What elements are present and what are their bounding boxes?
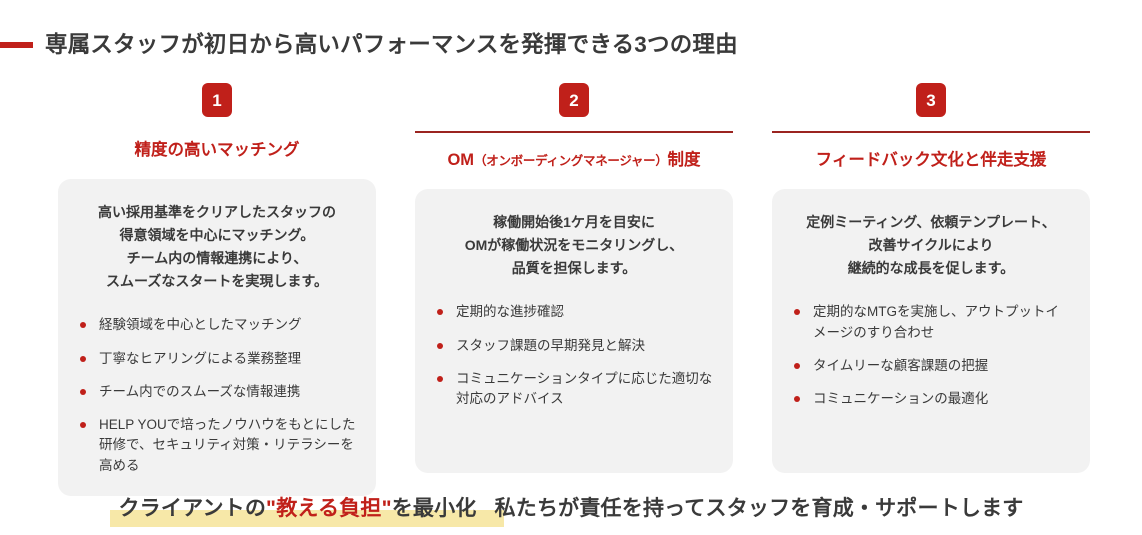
bullet-dot-icon [794, 309, 800, 315]
list-item: 経験領域を中心としたマッチング [78, 315, 356, 335]
bullet-text: コミュニケーションタイプに応じた適切な対応のアドバイス [456, 371, 712, 406]
title-accent-dash [0, 42, 33, 48]
badge-wrap-2: 2 [415, 83, 733, 125]
bullet-text: コミュニケーションの最適化 [813, 391, 988, 406]
reasons-columns: 1 精度の高いマッチング 高い採用基準をクリアしたスタッフの 得意領域を中心にマ… [58, 83, 1090, 473]
bullet-text: HELP YOUで培ったノウハウをもとにした研修で、セキュリティ対策・リテラシー… [99, 417, 356, 473]
bullet-text: 定期的な進捗確認 [456, 304, 564, 319]
column-bullets-1: 経験領域を中心としたマッチング 丁寧なヒアリングによる業務整理 チーム内でのスム… [78, 315, 356, 476]
footer-prefix: クライアントの [118, 497, 266, 520]
column-card-1: 高い採用基準をクリアしたスタッフの 得意領域を中心にマッチング。 チーム内の情報… [58, 179, 376, 496]
footer-support-text: 私たちが責任を持ってスタッフを育成・サポートします [495, 498, 1024, 519]
list-item: 定期的な進捗確認 [435, 302, 713, 322]
footer-suffix: を最小化 [392, 497, 477, 520]
column-lead-2: 稼働開始後1ケ月を目安に OMが稼働状況をモニタリングし、 品質を担保します。 [435, 211, 713, 280]
bullet-dot-icon [80, 322, 86, 328]
bullet-dot-icon [437, 309, 443, 315]
slide-title-row: 専属スタッフが初日から高いパフォーマンスを発揮できる3つの理由 [0, 28, 1142, 62]
step-number-badge: 1 [202, 83, 232, 117]
bullet-dot-icon [437, 376, 443, 382]
bullet-dot-icon [80, 356, 86, 362]
bullet-dot-icon [794, 363, 800, 369]
column-bullets-3: 定期的なMTGを実施し、アウトプットイメージのすり合わせ タイムリーな顧客課題の… [792, 302, 1070, 409]
column-card-2: 稼働開始後1ケ月を目安に OMが稼働状況をモニタリングし、 品質を担保します。 … [415, 189, 733, 473]
bullet-text: 経験領域を中心としたマッチング [99, 317, 302, 332]
badge-wrap-3: 3 [772, 83, 1090, 125]
column-heading-2: OM（オンボーディングマネージャー）制度 [415, 151, 733, 173]
page-title: 専属スタッフが初日から高いパフォーマンスを発揮できる3つの理由 [45, 34, 738, 57]
reason-column-2: 2 OM（オンボーディングマネージャー）制度 稼働開始後1ケ月を目安に OMが稼… [415, 83, 733, 473]
footer-statement: クライアントの"教える負担"を最小化 [118, 498, 476, 519]
slide-footer: クライアントの"教える負担"を最小化 私たちが責任を持ってスタッフを育成・サポー… [0, 487, 1142, 529]
column-lead-3: 定例ミーティング、依頼テンプレート、 改善サイクルにより 継続的な成長を促します… [792, 211, 1070, 280]
list-item: 定期的なMTGを実施し、アウトプットイメージのすり合わせ [792, 302, 1070, 343]
reason-column-1: 1 精度の高いマッチング 高い採用基準をクリアしたスタッフの 得意領域を中心にマ… [58, 83, 376, 473]
list-item: HELP YOUで培ったノウハウをもとにした研修で、セキュリティ対策・リテラシー… [78, 415, 356, 476]
step-number-badge: 2 [559, 83, 589, 117]
bullet-dot-icon [80, 389, 86, 395]
column-lead-1: 高い採用基準をクリアしたスタッフの 得意領域を中心にマッチング。 チーム内の情報… [78, 201, 356, 293]
column-divider [415, 131, 733, 133]
column-card-3: 定例ミーティング、依頼テンプレート、 改善サイクルにより 継続的な成長を促します… [772, 189, 1090, 473]
slide-root: 専属スタッフが初日から高いパフォーマンスを発揮できる3つの理由 1 精度の高いマ… [0, 0, 1142, 535]
list-item: チーム内でのスムーズな情報連携 [78, 382, 356, 402]
footer-emphasis: "教える負担" [266, 497, 392, 520]
column-heading-note: （オンボーディングマネージャー） [474, 154, 667, 168]
list-item: コミュニケーションタイプに応じた適切な対応のアドバイス [435, 369, 713, 410]
list-item: タイムリーな顧客課題の把握 [792, 356, 1070, 376]
bullet-text: 丁寧なヒアリングによる業務整理 [99, 351, 301, 366]
column-bullets-2: 定期的な進捗確認 スタッフ課題の早期発見と解決 コミュニケーションタイプに応じた… [435, 302, 713, 409]
bullet-text: タイムリーな顧客課題の把握 [813, 358, 988, 373]
bullet-text: スタッフ課題の早期発見と解決 [456, 338, 645, 353]
badge-wrap-1: 1 [58, 83, 376, 117]
bullet-text: 定期的なMTGを実施し、アウトプットイメージのすり合わせ [813, 304, 1059, 339]
list-item: 丁寧なヒアリングによる業務整理 [78, 349, 356, 369]
step-number-badge: 3 [916, 83, 946, 117]
reason-column-3: 3 フィードバック文化と伴走支援 定例ミーティング、依頼テンプレート、 改善サイ… [772, 83, 1090, 473]
bullet-dot-icon [437, 343, 443, 349]
column-heading-1: 精度の高いマッチング [58, 141, 376, 163]
list-item: コミュニケーションの最適化 [792, 389, 1070, 409]
column-divider [772, 131, 1090, 133]
bullet-text: チーム内でのスムーズな情報連携 [99, 384, 300, 399]
list-item: スタッフ課題の早期発見と解決 [435, 336, 713, 356]
column-heading-3: フィードバック文化と伴走支援 [772, 151, 1090, 173]
bullet-dot-icon [794, 396, 800, 402]
bullet-dot-icon [80, 422, 86, 428]
column-heading-main: OM [447, 151, 474, 169]
footer-inner: クライアントの"教える負担"を最小化 私たちが責任を持ってスタッフを育成・サポー… [118, 498, 1023, 519]
column-heading-tail: 制度 [668, 151, 701, 169]
